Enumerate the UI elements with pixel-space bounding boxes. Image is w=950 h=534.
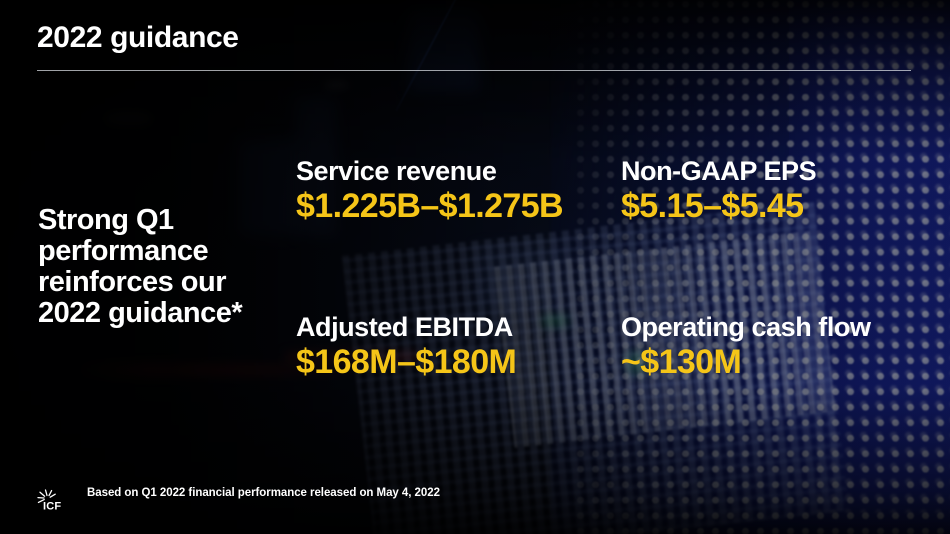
metric-value: $168M–$180M [296, 344, 516, 381]
presentation-slide: 2022 guidance Strong Q1 performance rein… [0, 0, 950, 534]
metric-value: $5.15–$5.45 [621, 188, 816, 225]
footer-source-note: Based on Q1 2022 financial performance r… [87, 487, 440, 499]
metric-value: $1.225B–$1.275B [296, 188, 563, 225]
metric-non-gaap-eps: Non-GAAP EPS $5.15–$5.45 [621, 157, 816, 225]
metric-label: Adjusted EBITDA [296, 313, 516, 343]
metric-adjusted-ebitda: Adjusted EBITDA $168M–$180M [296, 313, 516, 381]
slide-headline: Strong Q1 performance reinforces our 202… [38, 205, 278, 329]
icf-logo-text: ICF [43, 501, 61, 513]
metric-label: Non-GAAP EPS [621, 157, 816, 187]
metric-value: ~$130M [621, 344, 871, 381]
metric-service-revenue: Service revenue $1.225B–$1.275B [296, 157, 563, 225]
metric-label: Service revenue [296, 157, 563, 187]
slide-title: 2022 guidance [37, 23, 239, 53]
title-divider [37, 70, 911, 71]
metric-label: Operating cash flow [621, 313, 871, 343]
icf-logo: ICF [32, 487, 72, 517]
metric-operating-cash-flow: Operating cash flow ~$130M [621, 313, 871, 381]
